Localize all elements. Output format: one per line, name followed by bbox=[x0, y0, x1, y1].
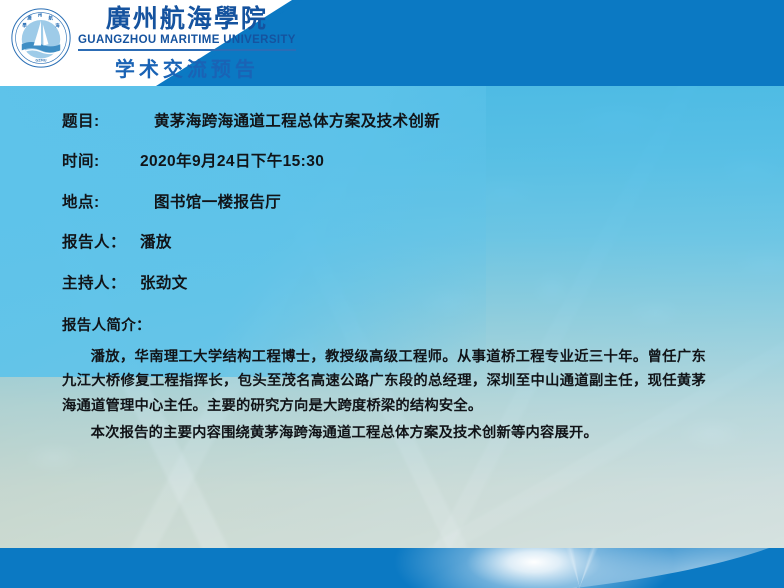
info-row-time: 时间: 2020年9月24日下午15:30 bbox=[62, 152, 744, 171]
info-row-location: 地点: 图书馆一楼报告厅 bbox=[62, 193, 744, 212]
academic-lecture-poster: 廣 州 航 海 學 GZMU 廣州航海學院 GUANGZHOU MARITIME… bbox=[0, 0, 784, 588]
info-row-speaker: 报告人： 潘放 bbox=[62, 233, 744, 252]
svg-text:州: 州 bbox=[37, 12, 42, 18]
university-name-en: GUANGZHOU MARITIME UNIVERSITY bbox=[78, 34, 296, 46]
brand-text-block: 廣州航海學院 GUANGZHOU MARITIME UNIVERSITY 学术交… bbox=[78, 5, 296, 82]
brand-divider bbox=[78, 49, 296, 51]
university-brand: 廣 州 航 海 學 GZMU 廣州航海學院 GUANGZHOU MARITIME… bbox=[10, 5, 296, 82]
info-label-topic: 题目: bbox=[62, 112, 140, 131]
poster-content: 题目: 黄茅海跨海通道工程总体方案及技术创新 时间: 2020年9月24日下午1… bbox=[0, 86, 784, 447]
info-label-speaker: 报告人： bbox=[62, 233, 140, 252]
footer-light-burst-icon bbox=[384, 548, 684, 588]
info-label-time: 时间: bbox=[62, 152, 140, 171]
info-row-topic: 题目: 黄茅海跨海通道工程总体方案及技术创新 bbox=[62, 112, 744, 131]
university-sailboat-crest-icon: 廣 州 航 海 學 GZMU bbox=[10, 7, 72, 69]
info-value-topic: 黄茅海跨海通道工程总体方案及技术创新 bbox=[140, 112, 440, 131]
info-value-speaker: 潘放 bbox=[140, 233, 172, 252]
poster-subtitle: 学术交流预告 bbox=[115, 53, 259, 82]
info-row-host: 主持人： 张劲文 bbox=[62, 274, 744, 293]
speaker-bio-heading: 报告人简介： bbox=[62, 314, 744, 335]
info-label-location: 地点: bbox=[62, 193, 140, 212]
info-label-host: 主持人： bbox=[62, 274, 140, 293]
info-value-location: 图书馆一楼报告厅 bbox=[140, 193, 281, 212]
speaker-bio-paragraph-2: 本次报告的主要内容围绕黄茅海跨海通道工程总体方案及技术创新等内容展开。 bbox=[62, 421, 744, 446]
svg-text:GZMU: GZMU bbox=[35, 59, 46, 63]
info-value-time: 2020年9月24日下午15:30 bbox=[140, 152, 324, 171]
university-name-cn: 廣州航海學院 bbox=[106, 5, 268, 33]
poster-footer-band bbox=[0, 548, 784, 588]
info-value-host: 张劲文 bbox=[140, 274, 188, 293]
speaker-bio-paragraph-1: 潘放，华南理工大学结构工程博士，教授级高级工程师。从事道桥工程专业近三十年。曾任… bbox=[62, 345, 744, 419]
